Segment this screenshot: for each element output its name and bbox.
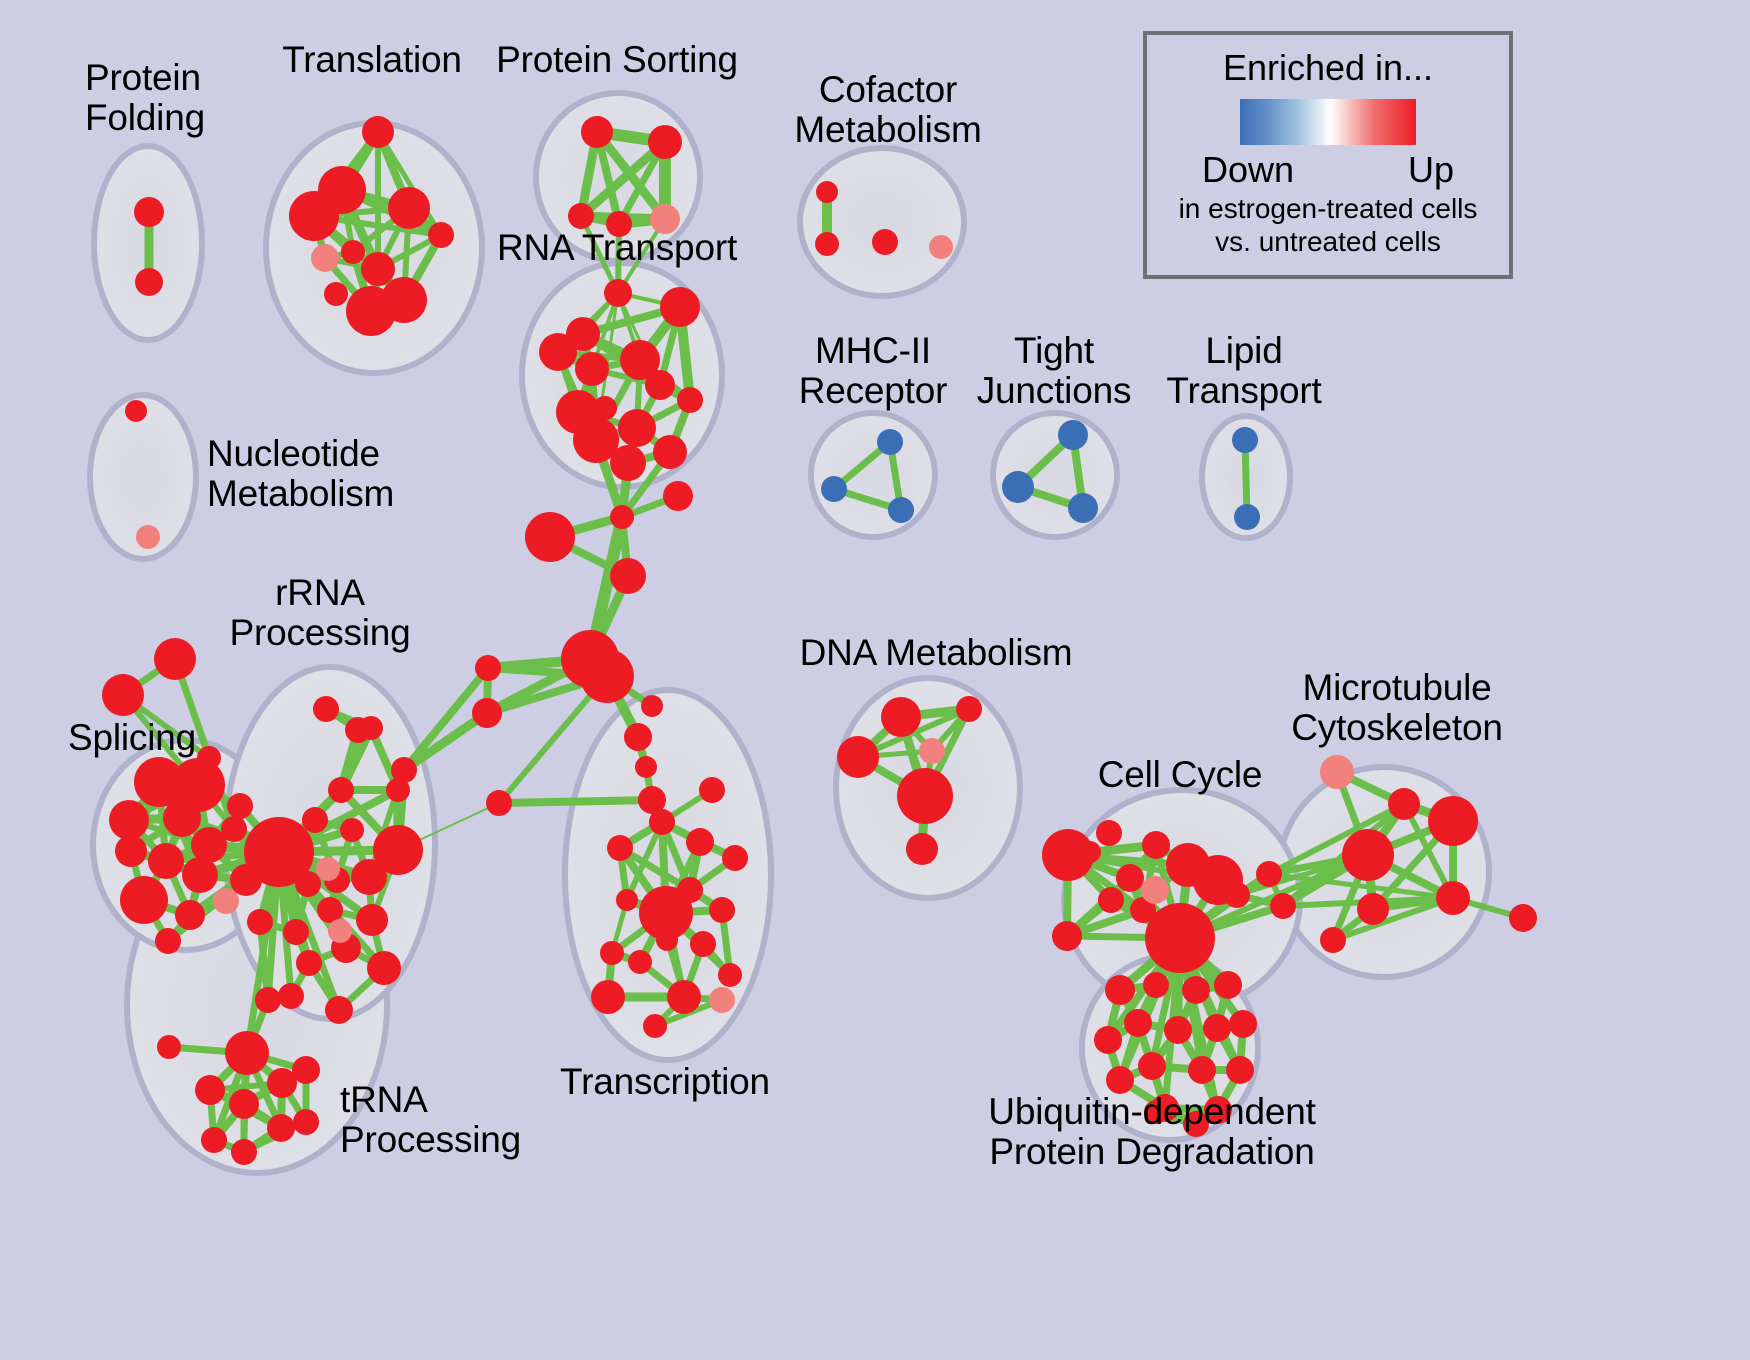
node <box>1096 820 1122 846</box>
node <box>660 287 700 327</box>
node <box>1229 1010 1257 1038</box>
node <box>148 843 184 879</box>
node <box>115 835 147 867</box>
node <box>391 757 417 783</box>
node <box>1357 893 1389 925</box>
node <box>624 723 652 751</box>
node <box>1068 493 1098 523</box>
node <box>1342 829 1394 881</box>
node <box>667 980 701 1014</box>
cluster-ellipse-mhc-ii-receptor <box>811 413 935 537</box>
node <box>656 929 678 951</box>
node <box>815 232 839 256</box>
node <box>610 445 646 481</box>
node <box>227 793 253 819</box>
node <box>289 191 339 241</box>
cluster-label-protein-folding: Protein Folding <box>85 58 205 137</box>
legend-subtitle-line-1: in estrogen-treated cells <box>1179 193 1478 224</box>
node <box>328 919 352 943</box>
node <box>313 696 339 722</box>
node <box>302 807 328 833</box>
node <box>175 900 205 930</box>
node <box>641 695 663 717</box>
node <box>292 1056 320 1084</box>
node <box>709 987 735 1013</box>
node <box>618 409 656 447</box>
node <box>328 777 354 803</box>
node <box>1182 976 1210 1004</box>
node <box>1436 881 1470 915</box>
node <box>1124 1009 1152 1037</box>
cluster-label-trna-processing: tRNA Processing <box>340 1080 521 1159</box>
node <box>591 980 625 1014</box>
node <box>229 1089 259 1119</box>
cluster-label-tight-junctions: Tight Junctions <box>977 331 1132 410</box>
node <box>1270 893 1296 919</box>
node <box>888 497 914 523</box>
node <box>604 279 632 307</box>
node <box>351 859 387 895</box>
node <box>919 738 945 764</box>
node <box>247 909 273 935</box>
node <box>1388 788 1420 820</box>
node <box>1143 972 1169 998</box>
node <box>653 435 687 469</box>
legend-color-gradient-bar <box>1240 99 1416 145</box>
node <box>278 983 304 1009</box>
node <box>324 282 348 306</box>
node <box>136 525 160 549</box>
node <box>367 951 401 985</box>
node <box>381 277 427 323</box>
node <box>1052 921 1082 951</box>
node <box>1164 1016 1192 1044</box>
node <box>645 370 675 400</box>
node <box>225 1031 269 1075</box>
node <box>231 1139 257 1165</box>
node <box>610 558 646 594</box>
node <box>1232 427 1258 453</box>
cluster-label-rna-transport: RNA Transport <box>497 228 737 268</box>
node <box>628 950 652 974</box>
node <box>906 833 938 865</box>
node <box>109 800 149 840</box>
node <box>1226 1056 1254 1084</box>
node <box>1098 887 1124 913</box>
node <box>1105 975 1135 1005</box>
node <box>677 877 703 903</box>
legend-up-label: Up <box>1408 149 1454 191</box>
node <box>877 429 903 455</box>
node <box>362 116 394 148</box>
node <box>359 716 383 740</box>
node <box>195 1075 225 1105</box>
node <box>283 919 309 945</box>
node <box>872 229 898 255</box>
cluster-label-rrna-processing: rRNA Processing <box>229 573 410 652</box>
node <box>581 116 613 148</box>
legend-title: Enriched in... <box>1223 47 1433 89</box>
node <box>1002 471 1034 503</box>
node <box>1188 1056 1216 1084</box>
node <box>135 268 163 296</box>
node <box>1145 903 1215 973</box>
node <box>1256 861 1282 887</box>
node <box>881 697 921 737</box>
node <box>1106 1066 1134 1094</box>
node <box>201 1127 227 1153</box>
node <box>1320 755 1354 789</box>
node <box>616 889 638 911</box>
node <box>1320 927 1346 953</box>
node <box>120 876 168 924</box>
node <box>1224 882 1250 908</box>
node <box>293 1109 319 1135</box>
node <box>134 197 164 227</box>
node <box>1138 1052 1166 1080</box>
legend-down-label: Down <box>1202 149 1294 191</box>
node <box>1141 876 1169 904</box>
node <box>600 941 624 965</box>
node <box>316 857 340 881</box>
cluster-label-cofactor-metabolism: Cofactor Metabolism <box>794 70 981 149</box>
node <box>722 845 748 871</box>
cluster-label-ubiquitin-degradation: Ubiquitin-dependent Protein Degradation <box>988 1092 1315 1171</box>
node <box>472 698 502 728</box>
node <box>1203 1014 1231 1042</box>
node <box>643 1014 667 1038</box>
node <box>690 931 716 957</box>
legend-panel: Enriched in... Down Up in estrogen-treat… <box>1143 31 1513 279</box>
node <box>837 736 879 778</box>
node <box>340 818 364 842</box>
network-figure: .cell{fill:url(#cg);stroke:#b0b2cc;strok… <box>0 0 1750 1360</box>
node <box>929 235 953 259</box>
node <box>311 244 339 272</box>
node <box>213 888 239 914</box>
node <box>649 809 675 835</box>
node <box>1094 1026 1122 1054</box>
node <box>686 828 714 856</box>
legend-subtitle-line-2: vs. untreated cells <box>1215 226 1441 257</box>
cluster-label-cell-cycle: Cell Cycle <box>1098 755 1263 795</box>
node <box>428 222 454 248</box>
node <box>155 928 181 954</box>
node <box>816 181 838 203</box>
node <box>356 904 388 936</box>
node <box>539 333 577 371</box>
node <box>648 125 682 159</box>
node <box>677 387 703 413</box>
node <box>361 252 395 286</box>
node <box>1234 504 1260 530</box>
node <box>295 871 321 897</box>
node <box>1079 841 1101 863</box>
node <box>607 835 633 861</box>
node <box>1058 420 1088 450</box>
node <box>663 481 693 511</box>
node <box>1214 971 1242 999</box>
cluster-label-nucleotide-metabolism: Nucleotide Metabolism <box>207 434 394 513</box>
node <box>575 352 609 386</box>
node <box>610 505 634 529</box>
node <box>1142 831 1170 859</box>
cluster-label-transcription: Transcription <box>560 1062 770 1102</box>
node <box>296 950 322 976</box>
node <box>709 897 735 923</box>
node <box>897 768 953 824</box>
node <box>821 476 847 502</box>
node <box>718 963 742 987</box>
node <box>102 674 144 716</box>
node <box>699 777 725 803</box>
node <box>125 400 147 422</box>
cluster-label-mhc-ii-receptor: MHC-II Receptor <box>799 331 948 410</box>
cluster-label-lipid-transport: Lipid Transport <box>1166 331 1321 410</box>
node <box>1509 904 1537 932</box>
legend-endpoint-labels: Down Up <box>1202 149 1454 191</box>
node <box>182 857 218 893</box>
cluster-label-protein-sorting: Protein Sorting <box>496 40 738 80</box>
node <box>1116 864 1144 892</box>
node <box>255 987 281 1013</box>
cluster-label-translation: Translation <box>282 40 461 80</box>
node <box>525 512 575 562</box>
node <box>1428 796 1478 846</box>
cluster-label-microtubule-cytoskeleton: Microtubule Cytoskeleton <box>1291 668 1503 747</box>
node <box>388 187 430 229</box>
node <box>154 638 196 680</box>
node <box>568 203 594 229</box>
node <box>475 655 501 681</box>
node <box>956 696 982 722</box>
node <box>157 1035 181 1059</box>
cluster-label-splicing: Splicing <box>68 718 196 758</box>
node <box>635 756 657 778</box>
cluster-label-dna-metabolism: DNA Metabolism <box>800 633 1073 673</box>
node <box>593 396 617 420</box>
node <box>486 790 512 816</box>
node <box>163 799 201 837</box>
node <box>580 649 634 703</box>
node <box>341 240 365 264</box>
node <box>325 996 353 1024</box>
node <box>267 1114 295 1142</box>
